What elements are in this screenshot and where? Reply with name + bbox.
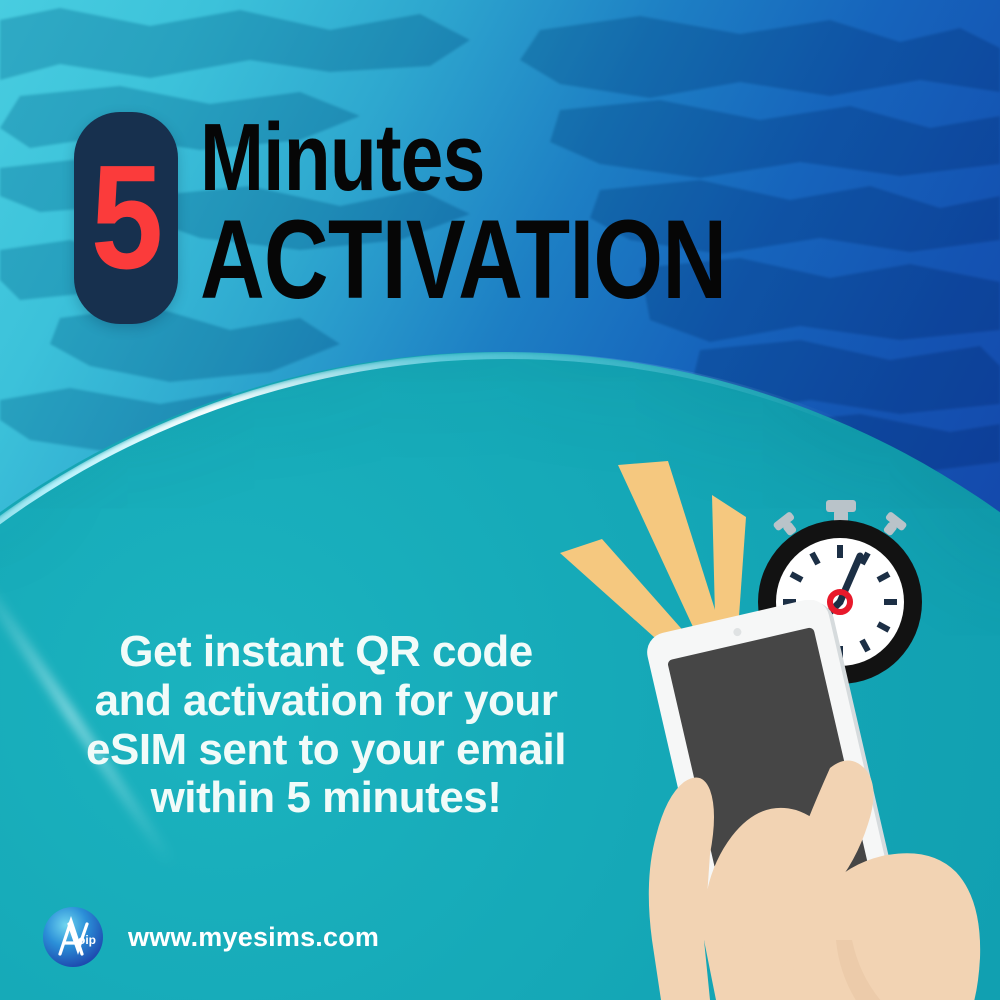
body-copy-line-4: within 5 minutes! (0, 774, 652, 823)
promo-poster: 5 Minutes ACTIVATION (0, 0, 1000, 1000)
minutes-badge: 5 (74, 112, 178, 324)
avoip-logo-icon[interactable]: oip (42, 906, 104, 968)
headline-line-minutes: Minutes (200, 114, 726, 202)
headline: 5 Minutes ACTIVATION (74, 112, 858, 324)
footer: oip www.myesims.com (42, 906, 379, 968)
body-copy: Get instant QR code and activation for y… (0, 628, 652, 823)
hand-icon (600, 640, 1000, 1000)
site-url[interactable]: www.myesims.com (128, 922, 379, 953)
body-copy-line-2: and activation for your (0, 677, 652, 726)
body-copy-line-1: Get instant QR code (0, 628, 652, 677)
badge-number: 5 (91, 160, 162, 275)
headline-text-stack: Minutes ACTIVATION (200, 112, 858, 311)
body-copy-line-3: eSIM sent to your email (0, 726, 652, 775)
logo-suffix-text: oip (78, 933, 96, 947)
headline-line-activation: ACTIVATION (200, 208, 726, 311)
